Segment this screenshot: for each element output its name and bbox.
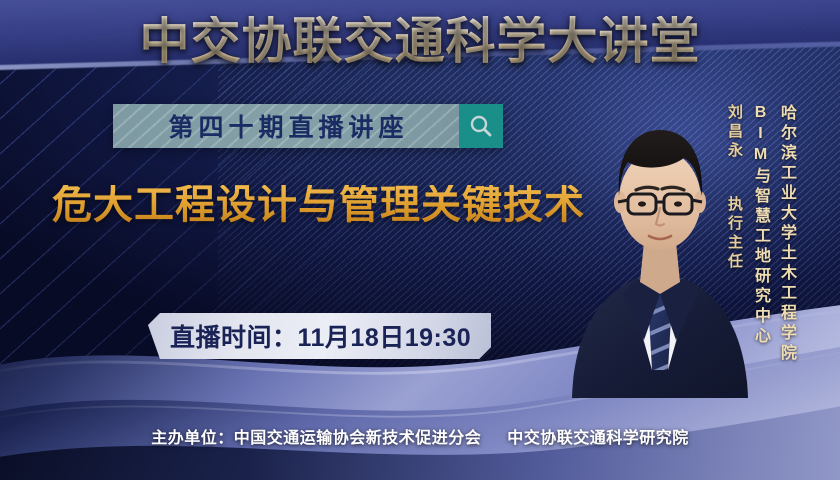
page-title: 中交协联交通科学大讲堂 [0,16,840,66]
poster-canvas: 中交协联交通科学大讲堂 第四十期直播讲座 危大工程设计与管理关键技术 直播时间：… [0,0,840,480]
footer: 主办单位：中国交通运输协会新技术促进分会中交协联交通科学研究院 [0,424,840,448]
footer-organizer-second: 中交协联交通科学研究院 [507,430,689,447]
broadcast-time-badge: 直播时间：11月18日19:30 [148,313,491,359]
episode-banner-bar: 第四十期直播讲座 [113,104,459,148]
episode-banner[interactable]: 第四十期直播讲座 [113,104,503,148]
broadcast-time-label: 直播时间：11月18日19:30 [170,318,471,354]
search-icon [468,113,494,139]
search-icon-button[interactable] [459,104,503,148]
speaker-organization-line2: BIM与智慧工地研究中心 [748,104,772,347]
speaker-role: 执行主任 [724,196,745,272]
speaker-organization-line1: 哈尔滨工业大学土木工程学院 [774,104,798,364]
lecture-title: 危大工程设计与管理关键技术 [52,185,585,225]
speaker-name: 刘昌永 [724,104,745,161]
episode-banner-label: 第四十期直播讲座 [163,108,408,144]
footer-organizer-label: 主办单位：中国交通运输协会新技术促进分会 [151,430,481,447]
